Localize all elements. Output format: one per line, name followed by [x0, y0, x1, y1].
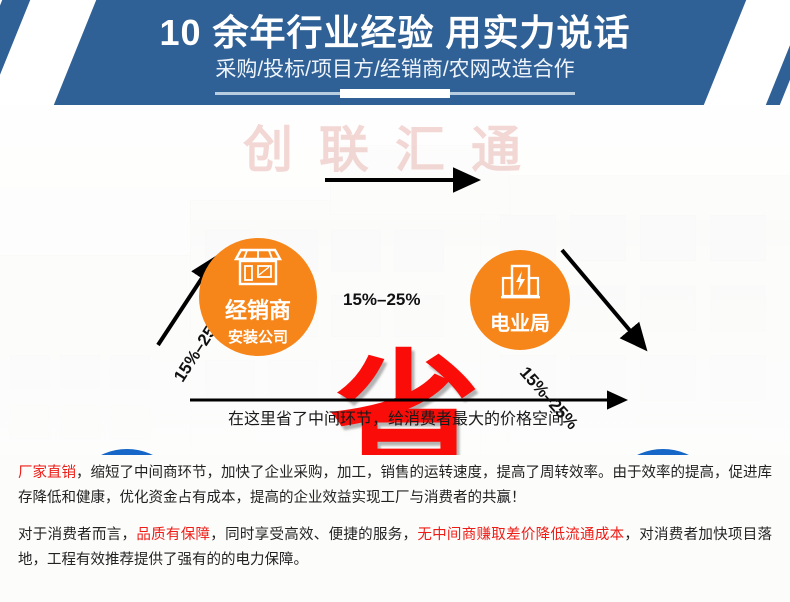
arrow-label-company-to-consumer: 在这里省了中间环节，给消费者最大的价格空间: [198, 405, 594, 429]
header-title: 10 余年行业经验 用实力说话: [0, 11, 790, 55]
header-divider-center: [340, 89, 450, 98]
highlighted-text-run: 厂家直销: [18, 465, 76, 481]
diagram-stage: 创联汇通 省 15%–25% 15%–25% 15%–25% 在这里省了中间环节…: [0, 105, 790, 455]
text-run: 对于消费者而言，: [18, 527, 136, 543]
node-dealer-sublabel: 安装公司: [228, 326, 288, 347]
node-power-bureau-label: 电业局: [490, 307, 550, 336]
header-banner: 10 余年行业经验 用实力说话 采购/投标/项目方/经销商/农网改造合作: [0, 0, 790, 105]
node-dealer-label: 经销商: [225, 293, 291, 325]
footer-paragraph-1: 厂家直销，缩短了中间商环节，加快了企业采购，加工，销售的运转速度，提高了周转效率…: [18, 461, 772, 511]
text-run: ，缩短了中间商环节，加快了企业采购，加工，销售的运转速度，提高了周转效率。由于效…: [18, 465, 772, 506]
arrow-label-dealer-to-bureau: 15%–25%: [343, 290, 421, 310]
arrow-bureau-to-consumer: [562, 250, 632, 333]
highlighted-text-run: 品质有保障: [136, 527, 210, 543]
flow-arrows: [0, 105, 790, 455]
header-subtitle: 采购/投标/项目方/经销商/农网改造合作: [0, 57, 790, 83]
promo-banner: 10 余年行业经验 用实力说话 采购/投标/项目方/经销商/农网改造合作: [0, 0, 790, 602]
text-run: ，同时享受高效、便捷的服务，: [210, 527, 417, 543]
power-building-icon: [499, 264, 541, 305]
node-power-bureau[interactable]: 电业局: [470, 250, 570, 350]
footer-paragraph-2: 对于消费者而言，品质有保障，同时享受高效、便捷的服务，无中间商赚取差价降低流通成…: [18, 523, 772, 573]
shop-icon: [233, 248, 283, 291]
highlighted-text-run: 无中间商赚取差价降低流通成本: [417, 527, 624, 543]
node-dealer[interactable]: 经销商 安装公司: [199, 238, 317, 356]
footer-description: 厂家直销，缩短了中间商环节，加快了企业采购，加工，销售的运转速度，提高了周转效率…: [0, 455, 790, 602]
